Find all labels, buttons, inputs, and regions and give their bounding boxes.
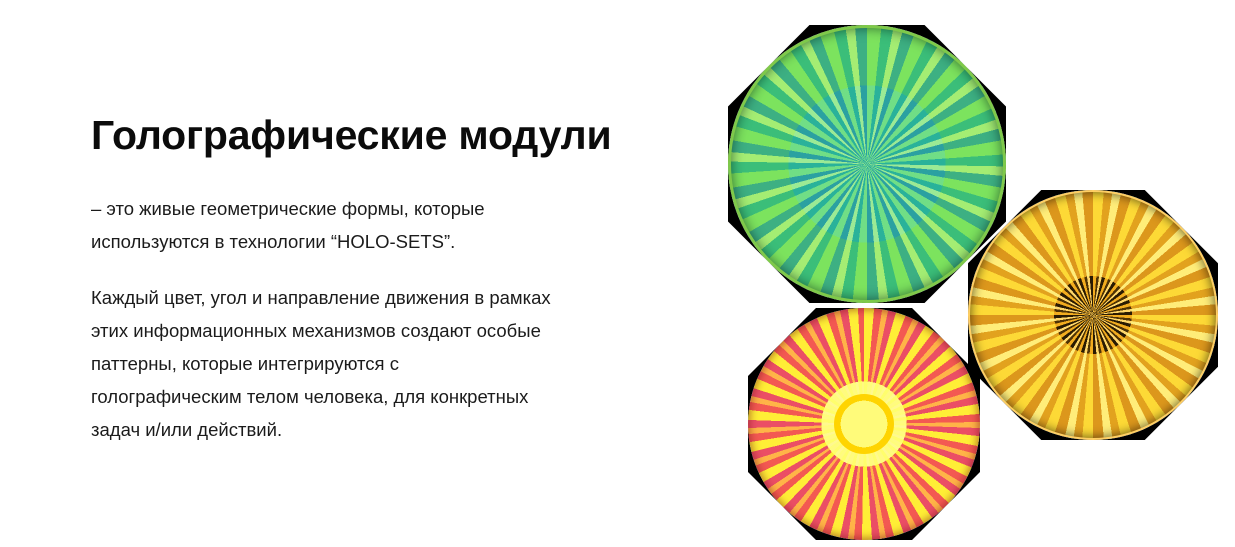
body-line: паттерны, которые интегрируются с (91, 347, 611, 380)
mandala-artwork-group (700, 0, 1235, 547)
text-column: Голографические модули – это живые геоме… (91, 0, 651, 547)
mandala-top-image (728, 25, 1006, 303)
intro-paragraph: – это живые геометрические формы, которы… (91, 192, 561, 258)
mandala-right-image (968, 190, 1218, 440)
mandala-core (968, 190, 1218, 440)
body-line: Каждый цвет, угол и направление движения… (91, 281, 611, 314)
mandala-core (748, 308, 980, 540)
body-line: этих информационных механизмов создают о… (91, 314, 611, 347)
page-title: Голографические модули (91, 110, 612, 160)
body-line: задач и/или действий. (91, 413, 611, 446)
mandala-core (728, 25, 1006, 303)
body-paragraph: Каждый цвет, угол и направление движения… (91, 281, 611, 446)
body-line: голографическим телом человека, для конк… (91, 380, 611, 413)
mandala-bottom-left-image (748, 308, 980, 540)
